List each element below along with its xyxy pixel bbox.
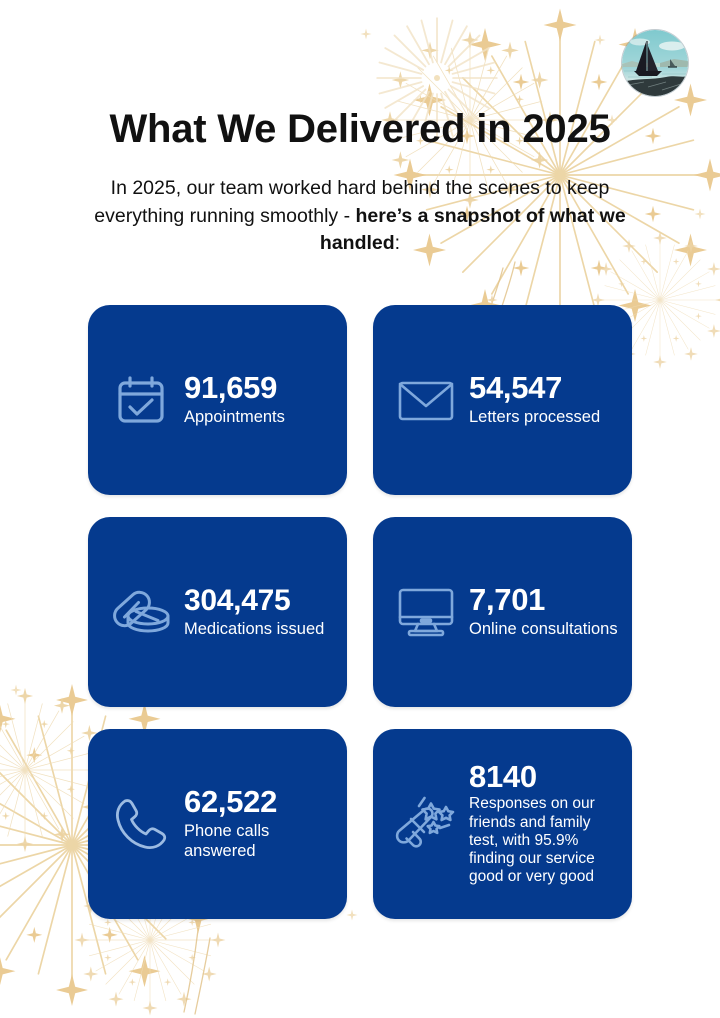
stat-card-text: 8140 Responses on our friends and family…	[463, 761, 618, 886]
megaphone-stars-icon	[389, 793, 463, 855]
stat-label: Online consultations	[469, 620, 618, 640]
phone-icon	[104, 795, 178, 853]
stat-card-online-consultations: 7,701 Online consultations	[373, 517, 632, 707]
stat-value: 7,701	[469, 584, 618, 617]
stat-card-text: 62,522 Phone calls answered	[178, 786, 333, 861]
stat-card-text: 54,547 Letters processed	[463, 372, 618, 428]
envelope-icon	[389, 376, 463, 424]
subtitle-bold-text: here’s a snapshot of what we handled	[320, 205, 626, 255]
stat-card-text: 7,701 Online consultations	[463, 584, 618, 640]
page-subtitle: In 2025, our team worked hard behind the…	[80, 175, 640, 258]
stat-value: 91,659	[184, 372, 333, 405]
stat-card-appointments: 91,659 Appointments	[88, 305, 347, 495]
infographic-poster: What We Delivered in 2025 In 2025, our t…	[0, 0, 720, 1018]
stat-value: 62,522	[184, 786, 333, 819]
subtitle-suffix: :	[395, 232, 400, 254]
stat-card-phone-calls: 62,522 Phone calls answered	[88, 729, 347, 919]
stat-card-grid: 91,659 Appointments 54,547 Letters proce…	[88, 305, 640, 919]
stat-label: Medications issued	[184, 620, 333, 640]
stat-card-text: 91,659 Appointments	[178, 372, 333, 428]
stat-label: Appointments	[184, 408, 333, 428]
stat-value: 8140	[469, 761, 618, 794]
stat-card-text: 304,475 Medications issued	[178, 585, 333, 640]
stat-label: Responses on our friends and family test…	[469, 795, 618, 886]
stat-value: 54,547	[469, 372, 618, 405]
page-title: What We Delivered in 2025	[0, 107, 720, 151]
pills-icon	[104, 585, 178, 639]
stat-card-friends-family-responses: 8140 Responses on our friends and family…	[373, 729, 632, 919]
stat-label: Phone calls answered	[184, 822, 333, 862]
stat-card-medications: 304,475 Medications issued	[88, 517, 347, 707]
sailboat-logo	[622, 30, 688, 96]
stat-card-letters: 54,547 Letters processed	[373, 305, 632, 495]
calendar-check-icon	[104, 373, 178, 427]
stat-label: Letters processed	[469, 408, 618, 428]
monitor-icon	[389, 586, 463, 638]
stat-value: 304,475	[184, 585, 333, 617]
